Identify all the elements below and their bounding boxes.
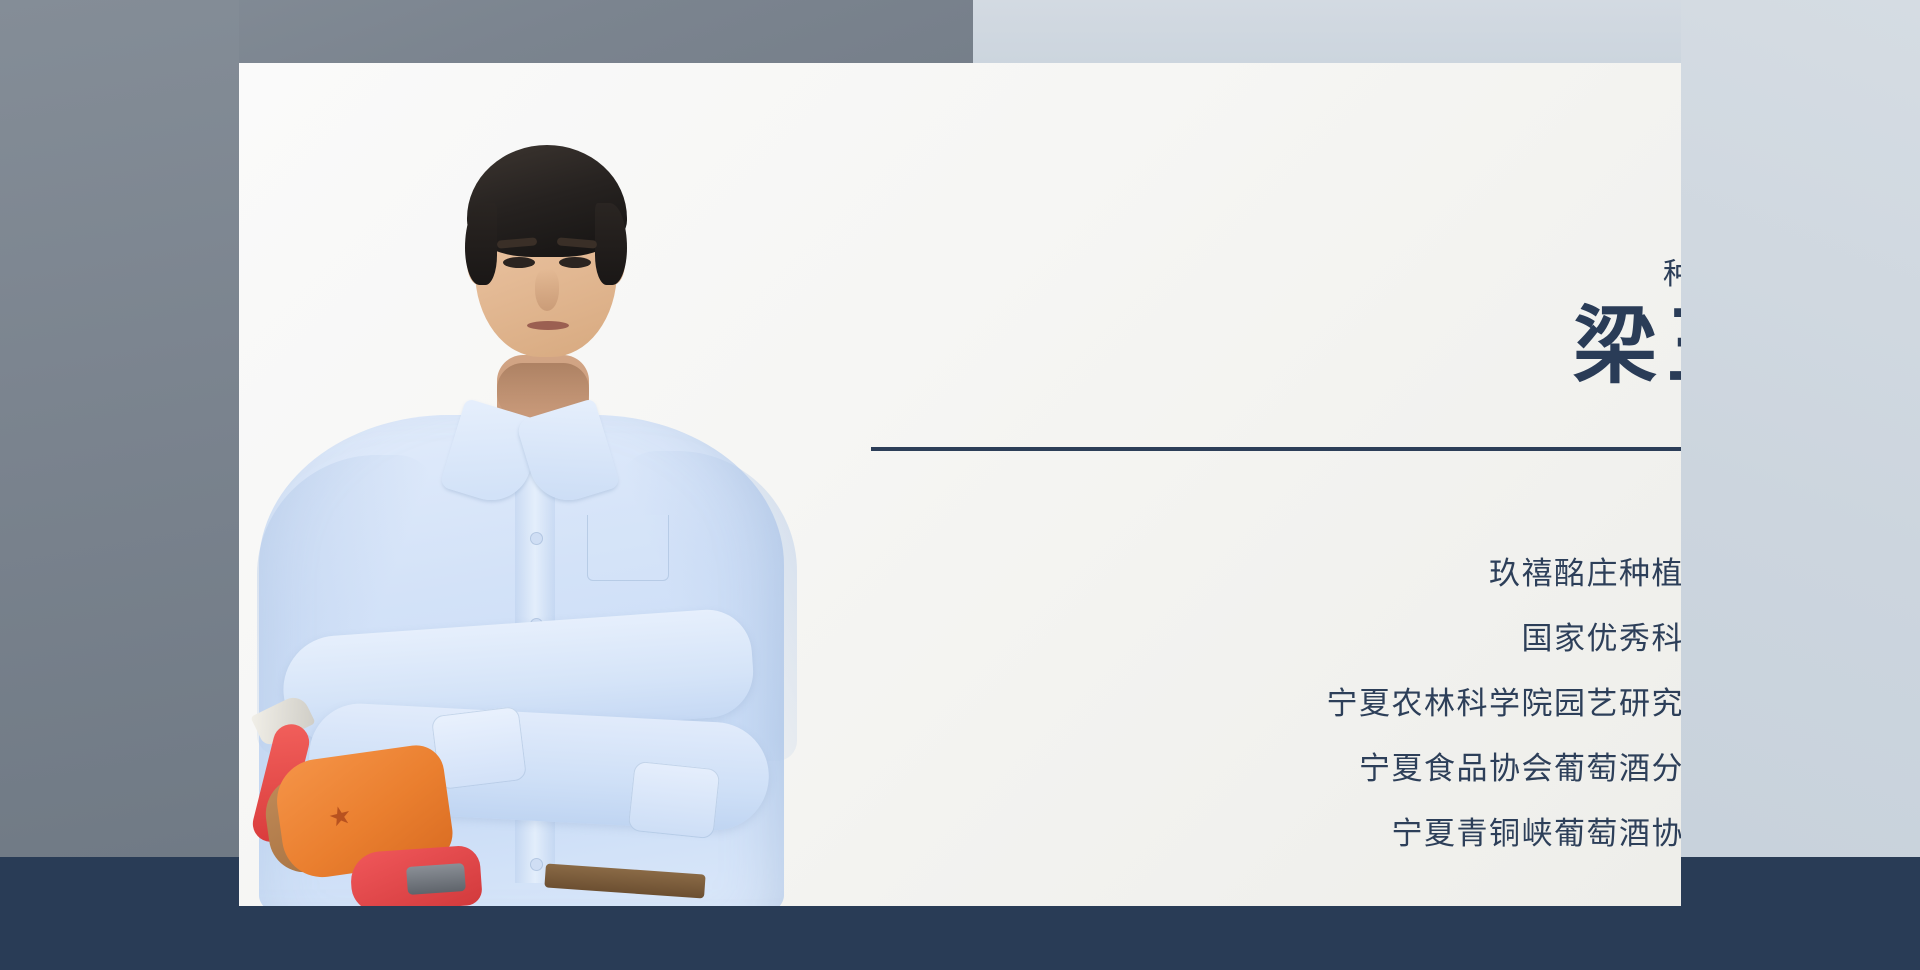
- list-item: 宁夏农林科学院园艺研究所研究员: [899, 673, 1681, 727]
- credential-text: 玖禧酩庄种植酿造专家: [1489, 548, 1681, 593]
- eye-left: [503, 257, 535, 268]
- list-item: 玖禧酩庄种植酿造专家: [899, 543, 1681, 597]
- hair-side-left: [465, 203, 497, 285]
- shirt-pocket: [587, 515, 669, 581]
- credential-text: 宁夏青铜峡葡萄酒协会副会长: [1392, 808, 1682, 853]
- list-item: 宁夏青铜峡葡萄酒协会副会长: [899, 803, 1681, 857]
- expert-role-subtitle: 种植酿造专家: [1139, 249, 1681, 293]
- eye-right: [559, 257, 591, 268]
- poster-stage: ★ 种植酿造专家 梁玉文 玖禧酩庄种植酿造专家 国家优秀科技特派员: [0, 0, 1920, 970]
- background-blue-right-panel: [1681, 0, 1920, 857]
- expert-name: 梁玉文: [1139, 303, 1681, 394]
- list-item: 国家优秀科技特派员: [899, 608, 1681, 662]
- profile-card: ★ 种植酿造专家 梁玉文 玖禧酩庄种植酿造专家 国家优秀科技特派员: [239, 63, 1681, 906]
- nose: [535, 269, 559, 311]
- list-item: 宁夏食品协会葡萄酒分会副会长: [899, 738, 1681, 792]
- background-gray-left-panel: [0, 0, 239, 857]
- mouth: [527, 321, 569, 330]
- portrait-canvas: ★: [239, 63, 839, 906]
- shirt-cuff-right: [628, 761, 721, 840]
- pruning-shear-grip: [406, 863, 466, 895]
- shirt-button: [531, 533, 542, 544]
- divider: [871, 443, 1681, 455]
- shirt-cuff-left: [431, 706, 527, 790]
- credential-text: 国家优秀科技特派员: [1522, 613, 1682, 658]
- expert-portrait-photo: ★: [239, 63, 839, 906]
- divider-line: [871, 447, 1681, 451]
- credential-list: 玖禧酩庄种植酿造专家 国家优秀科技特派员 宁夏农林科学院园艺研究所研究员 宁夏食…: [899, 543, 1681, 868]
- shirt-button: [531, 859, 542, 870]
- credential-text: 宁夏食品协会葡萄酒分会副会长: [1359, 743, 1681, 788]
- credential-text: 宁夏农林科学院园艺研究所研究员: [1327, 678, 1682, 723]
